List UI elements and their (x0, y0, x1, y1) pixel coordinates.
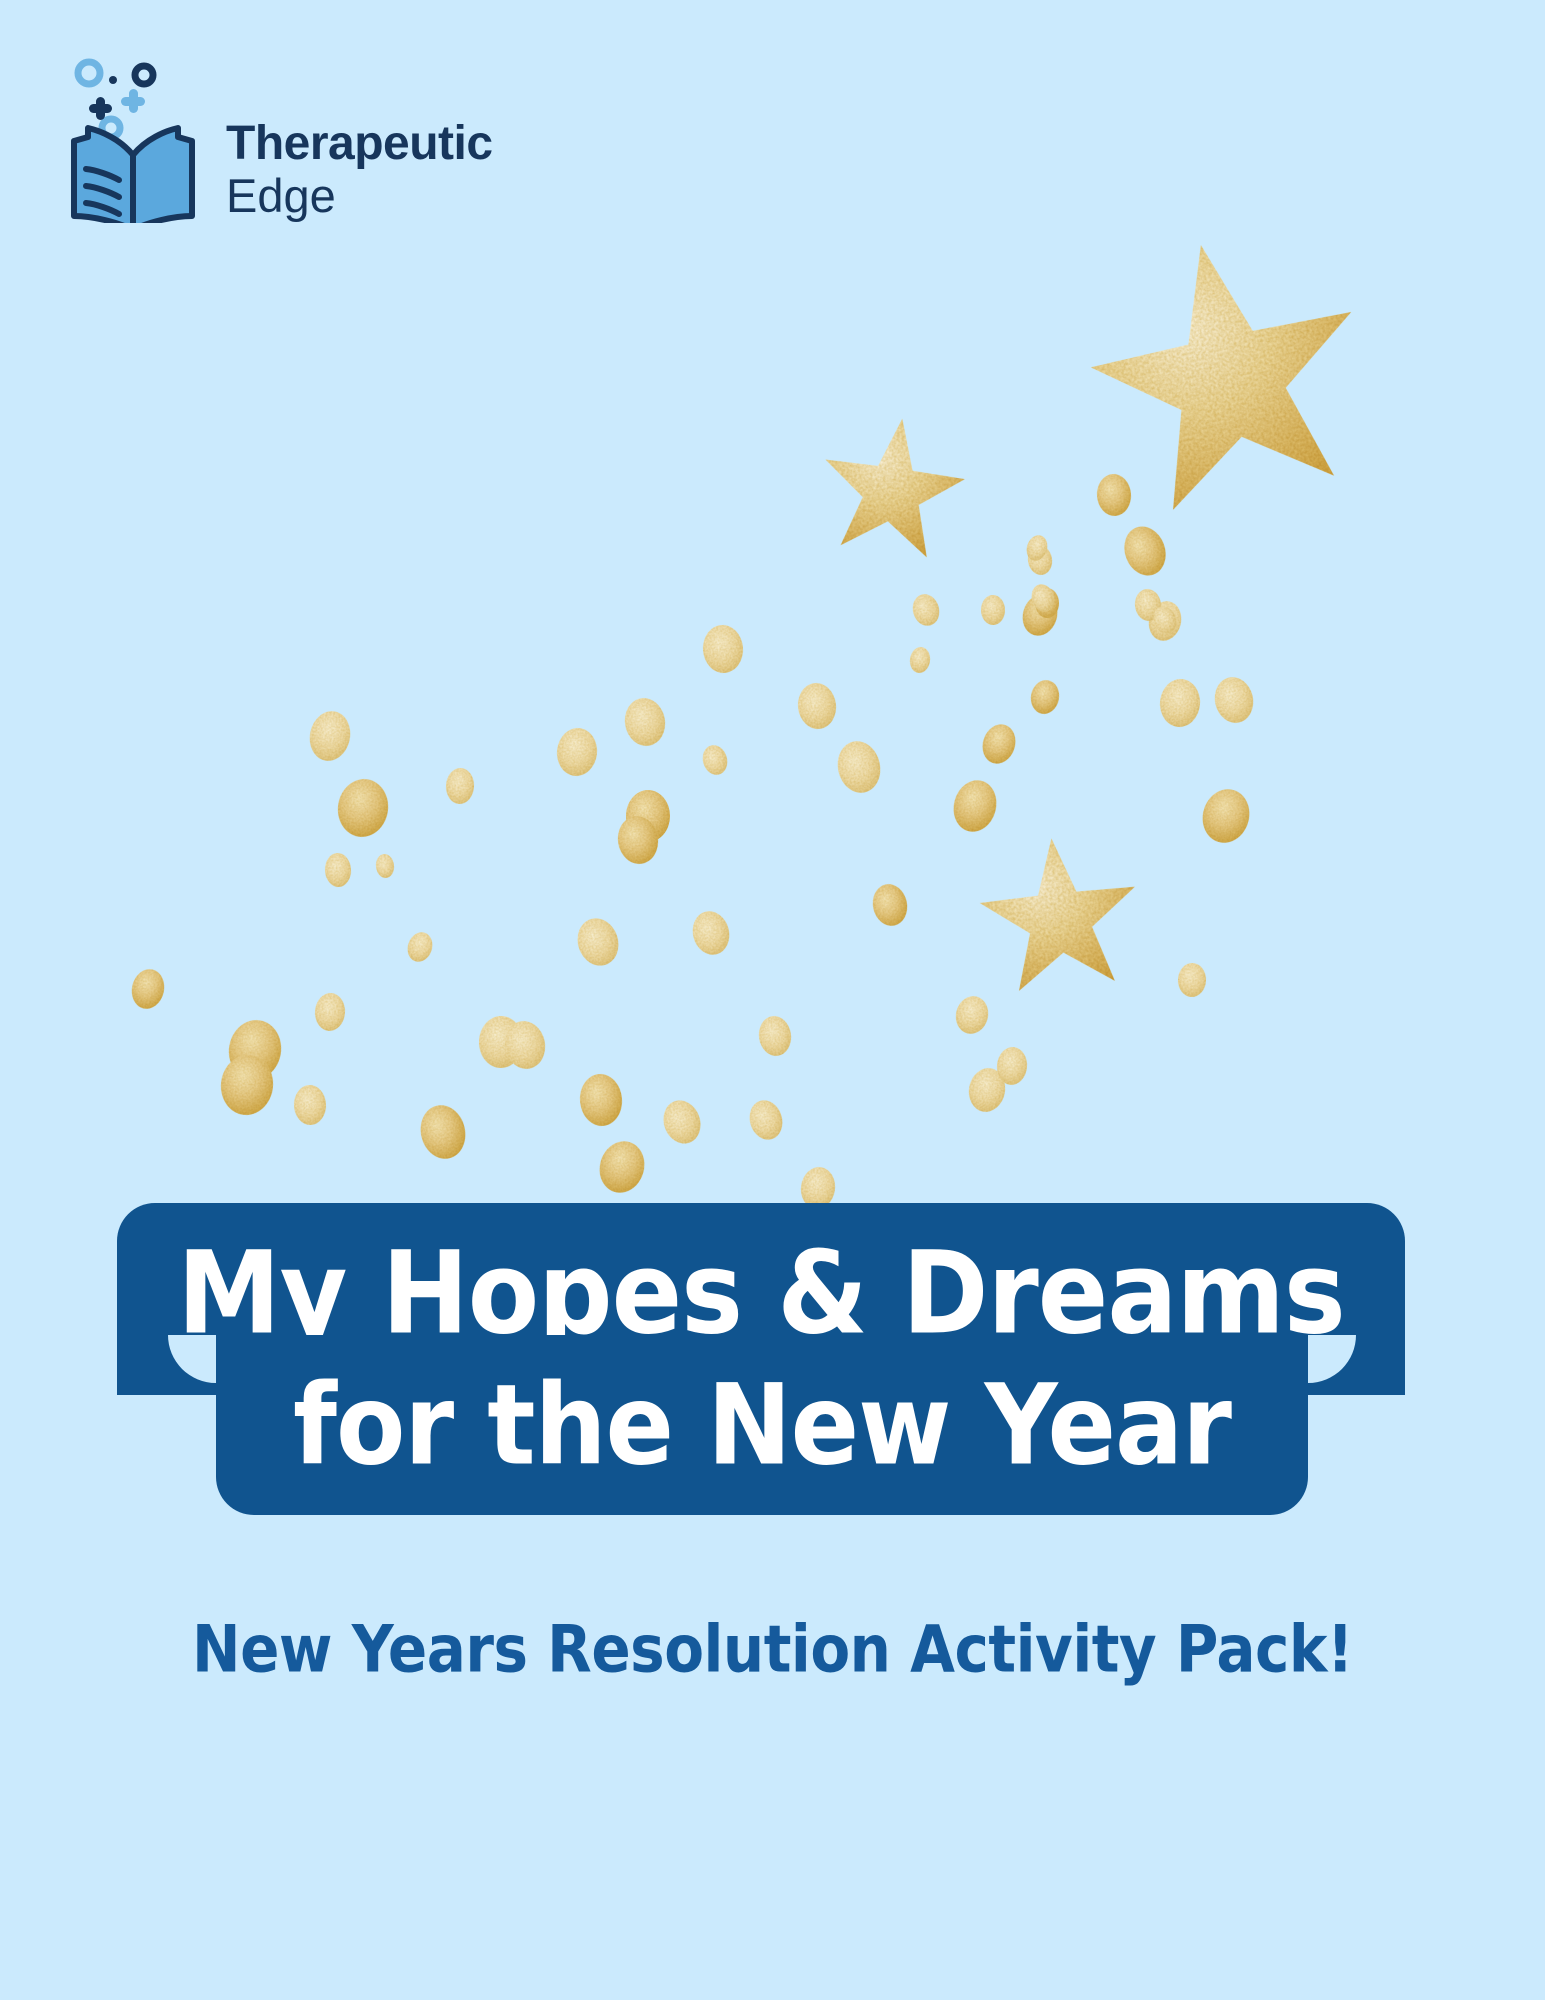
confetti-dot (404, 929, 436, 965)
confetti-dot (965, 1065, 1009, 1115)
confetti-dot (555, 726, 600, 778)
confetti-dot (1177, 963, 1206, 998)
cover-page: Therapeutic Edge My Hopes & Dreams for t… (0, 0, 1545, 2000)
confetti-dot (995, 1046, 1028, 1086)
confetti-dot (293, 1084, 326, 1125)
confetti-dot (572, 913, 625, 971)
confetti-dot (688, 907, 734, 959)
banner-notch-left (168, 1335, 216, 1383)
book-shape (74, 128, 192, 223)
open-book-logo-icon (58, 38, 208, 223)
confetti-dot (1028, 678, 1062, 717)
confetti-dot (1018, 590, 1063, 640)
confetti-dot (314, 992, 347, 1032)
confetti-dot (1028, 581, 1058, 615)
confetti-dot (1145, 598, 1186, 645)
confetti-dot (305, 707, 355, 764)
confetti-dot (795, 681, 838, 731)
gold-star-small (974, 830, 1145, 994)
confetti-dot (1223, 686, 1250, 721)
sparkle-dot (109, 76, 117, 84)
confetti-dot (324, 852, 352, 887)
confetti-dot (1026, 543, 1055, 577)
confetti-dot (593, 1136, 650, 1199)
confetti-dot (1210, 673, 1257, 726)
confetti-dot (578, 1072, 624, 1127)
logo-line-edge: Edge (226, 171, 586, 222)
confetti-dot (756, 1014, 793, 1058)
confetti-dot (978, 720, 1021, 768)
confetti-dot (1196, 784, 1255, 849)
confetti-dot (909, 591, 943, 629)
confetti-dot (501, 1018, 549, 1073)
confetti-dot (415, 1100, 471, 1163)
banner-notch-right (1308, 1335, 1356, 1383)
gold-confetti-layer (0, 0, 1545, 2000)
sparkle-circle-light-1 (78, 62, 100, 84)
confetti-dot (1035, 588, 1060, 618)
confetti-dot (658, 1095, 707, 1149)
confetti-dot (479, 1016, 524, 1069)
confetti-dot (981, 595, 1006, 625)
confetti-dot (224, 1016, 286, 1084)
confetti-dot (1023, 533, 1050, 564)
confetti-dot (833, 737, 886, 797)
title-line-2-text: for the New Year (293, 1369, 1231, 1480)
sparkle-plus-light (121, 89, 145, 113)
confetti-dot (626, 790, 670, 842)
confetti-dot (699, 742, 730, 777)
subtitle-text: New Years Resolution Activity Pack! (0, 1611, 1545, 1687)
confetti-dot (1118, 521, 1173, 582)
confetti-dot (1133, 588, 1163, 623)
sparkle-circle-dark-1 (135, 66, 153, 84)
title-line-2-box: for the New Year (216, 1335, 1308, 1515)
confetti-dot (701, 624, 744, 675)
confetti-dot (445, 767, 475, 804)
confetti-dot (952, 993, 992, 1038)
gold-stars (814, 217, 1384, 994)
confetti-dot (614, 813, 661, 867)
confetti-dot (1150, 603, 1180, 637)
confetti-dots (128, 473, 1258, 1211)
confetti-dot (218, 1052, 277, 1118)
confetti-dot (948, 775, 1002, 836)
confetti-dot (1096, 473, 1133, 517)
confetti-dot (128, 966, 168, 1012)
confetti-dot (869, 881, 911, 929)
brand-logo[interactable]: Therapeutic Edge (58, 38, 578, 223)
confetti-dot (745, 1096, 787, 1144)
title-banner: My Hopes & Dreams for the New Year (0, 1195, 1545, 1585)
logo-wordmark: Therapeutic Edge (226, 120, 586, 222)
confetti-dot (1158, 677, 1202, 728)
confetti-dot (375, 853, 395, 879)
gold-star-medium (814, 409, 972, 561)
confetti-dot (334, 775, 392, 840)
confetti-dot (621, 695, 669, 749)
title-line-1-text: My Hopes & Dreams (177, 1236, 1345, 1350)
gold-star-large (1071, 217, 1384, 520)
confetti-dot (908, 646, 931, 675)
logo-line-therapeutic: Therapeutic (226, 120, 586, 169)
